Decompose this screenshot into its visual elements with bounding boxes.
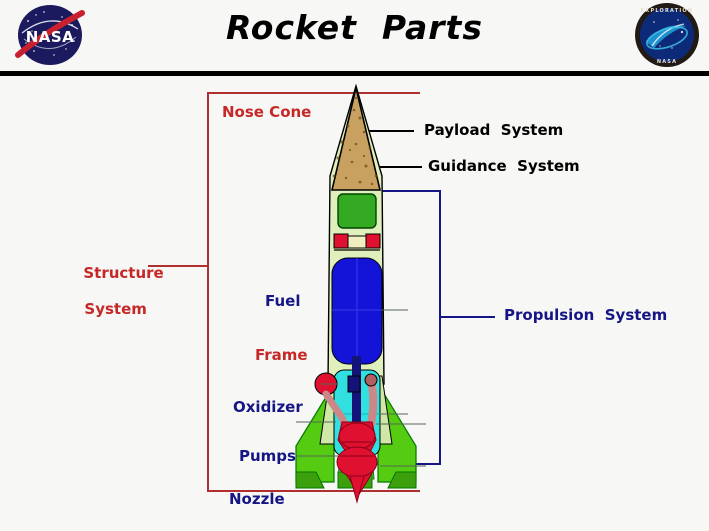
rocket-parts-page: NASA EXPLORATION NASA Rocket Parts	[0, 0, 709, 531]
label-guidance-system: Guidance System	[428, 157, 580, 175]
page-header: NASA EXPLORATION NASA Rocket Parts	[0, 0, 709, 71]
label-fuel: Fuel	[265, 292, 301, 310]
structure-system-line1: Structure	[83, 264, 163, 282]
propulsion-bracket-leader	[439, 316, 495, 318]
structure-system-line2: System	[84, 300, 146, 318]
label-structure-system: Structure System	[52, 246, 148, 336]
label-nozzle: Nozzle	[229, 490, 285, 508]
avionics-box-left	[334, 234, 348, 248]
label-oxidizer: Oxidizer	[233, 398, 303, 416]
propulsion-bracket-right	[439, 190, 441, 465]
avionics-box-center	[348, 236, 366, 248]
avionics-box-right	[366, 234, 380, 248]
structure-bracket-left	[207, 92, 209, 492]
nozzle-bell	[337, 447, 377, 477]
rocket-diagram: Nose Cone Fuel Frame Oxidizer Pumps Nozz…	[0, 76, 709, 531]
pump-right	[365, 374, 377, 386]
svg-text:NASA: NASA	[657, 59, 677, 65]
combustion-chamber	[339, 423, 375, 449]
page-title: Rocket Parts	[0, 8, 709, 47]
label-frame: Frame	[255, 346, 308, 364]
guidance-box	[338, 194, 376, 228]
nose-cone-payload	[332, 88, 380, 190]
label-nose-cone: Nose Cone	[222, 103, 311, 121]
pump-valve-center	[348, 376, 360, 392]
label-payload-system: Payload System	[424, 121, 563, 139]
label-pumps: Pumps	[239, 447, 296, 465]
label-propulsion-system: Propulsion System	[504, 306, 667, 324]
